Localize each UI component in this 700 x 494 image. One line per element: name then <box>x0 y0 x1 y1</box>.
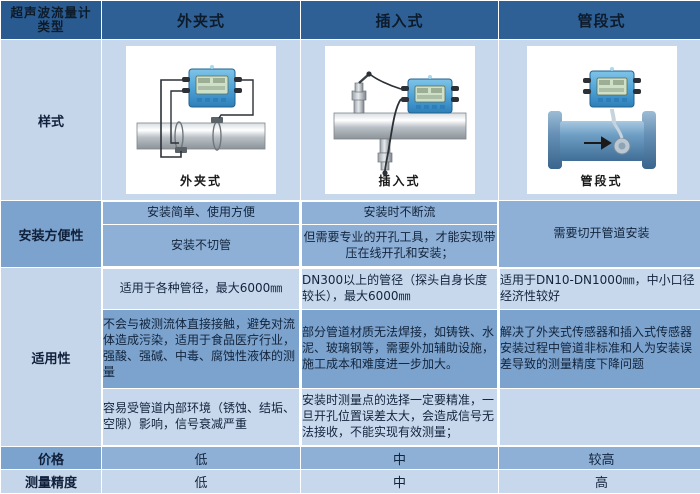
table-header-row: 超声波流量计 类型 外夹式 插入式 管段式 <box>1 1 700 40</box>
price-insertion: 中 <box>301 447 499 470</box>
row-label-style: 样式 <box>1 40 102 201</box>
applicability-inline-3 <box>500 389 700 446</box>
row-style: 样式 <box>1 40 700 201</box>
applicability-cell-clamp-on: 适用于各种管径，最大6000㎜ 不会与被测流体直接接触，避免对流体造成污染，适用… <box>102 268 301 447</box>
applicability-cell-insertion: DN300以上的管径（探头自身长度较长），最大6000㎜ 部分管道材质无法焊接，… <box>301 268 499 447</box>
install-insertion-line-2: 但需要专业的开孔工具，才能实现带压在线开孔和安装； <box>302 225 498 267</box>
row-applicability: 适用性 适用于各种管径，最大6000㎜ 不会与被测流体直接接触，避免对流体造成污… <box>1 268 700 447</box>
applicability-inline-1: 适用于DN10-DN1000㎜，中小口径经济性较好 <box>500 269 700 310</box>
accuracy-clamp-on: 低 <box>102 470 301 494</box>
applicability-insertion-1: DN300以上的管径（探头自身长度较长），最大6000㎜ <box>302 269 498 310</box>
applicability-clamp-on-3: 容易受管道内部环境（锈蚀、结垢、空隙）影响，信号衰减严重 <box>103 389 300 446</box>
header-col-inline: 管段式 <box>499 1 700 40</box>
picture-box-insertion: 插入式 <box>325 46 475 194</box>
header-corner-line2: 类型 <box>1 20 101 34</box>
install-clamp-on-line-1: 安装简单、使用方便 <box>103 202 300 225</box>
picture-caption-inline: 管段式 <box>527 172 677 189</box>
applicability-clamp-on-1: 适用于各种管径，最大6000㎜ <box>103 269 300 310</box>
accuracy-inline: 高 <box>499 470 700 494</box>
price-clamp-on: 低 <box>102 447 301 470</box>
header-col-clamp-on: 外夹式 <box>102 1 301 40</box>
applicability-insertion-3: 安装时测量点的选择一定要精准，一旦开孔位置误差太大，会造成信号无法接收，不能实现… <box>302 389 498 446</box>
picture-caption-clamp-on: 外夹式 <box>126 172 276 189</box>
sample-cell-inline: 管段式 <box>499 40 700 201</box>
row-label-accuracy: 测量精度 <box>1 470 102 494</box>
accuracy-insertion: 中 <box>301 470 499 494</box>
install-cell-inline: 需要切开管道安装 <box>499 201 700 268</box>
install-cell-clamp-on: 安装简单、使用方便 安装不切管 <box>102 201 301 268</box>
row-installation-convenience: 安装方便性 安装简单、使用方便 安装不切管 安装时不断流 但需要专业的开孔工具，… <box>1 201 700 268</box>
applicability-inline-2: 解决了外夹式传感器和插入式传感器安装过程中管道非标准和人为安装误差导致的测量精度… <box>500 310 700 389</box>
header-corner-line1: 超声波流量计 <box>1 6 101 20</box>
sample-cell-insertion: 插入式 <box>301 40 499 201</box>
install-insertion-line-1: 安装时不断流 <box>302 202 498 225</box>
comparison-table: 超声波流量计 类型 外夹式 插入式 管段式 样式 <box>0 0 700 494</box>
price-inline: 较高 <box>499 447 700 470</box>
row-label-price: 价格 <box>1 447 102 470</box>
applicability-clamp-on-2: 不会与被测流体直接接触，避免对流体造成污染，适用于食品医疗行业，强酸、强碱、中毒… <box>103 310 300 389</box>
applicability-cell-inline: 适用于DN10-DN1000㎜，中小口径经济性较好 解决了外夹式传感器和插入式传… <box>499 268 700 447</box>
header-corner-cell: 超声波流量计 类型 <box>1 1 102 40</box>
sample-cell-clamp-on: 外夹式 <box>102 40 301 201</box>
header-col-insertion: 插入式 <box>301 1 499 40</box>
row-label-installation-convenience: 安装方便性 <box>1 201 102 268</box>
picture-box-inline: 管段式 <box>527 46 677 194</box>
row-label-applicability: 适用性 <box>1 268 102 447</box>
picture-caption-insertion: 插入式 <box>325 172 475 189</box>
picture-box-clamp-on: 外夹式 <box>126 46 276 194</box>
install-clamp-on-line-2: 安装不切管 <box>103 225 300 267</box>
row-price: 价格 低 中 较高 <box>1 447 700 470</box>
install-cell-insertion: 安装时不断流 但需要专业的开孔工具，才能实现带压在线开孔和安装； <box>301 201 499 268</box>
applicability-insertion-2: 部分管道材质无法焊接，如铸铁、水泥、玻璃钢等，需要外加辅助设施，施工成本和难度进… <box>302 310 498 389</box>
row-accuracy: 测量精度 低 中 高 <box>1 470 700 494</box>
